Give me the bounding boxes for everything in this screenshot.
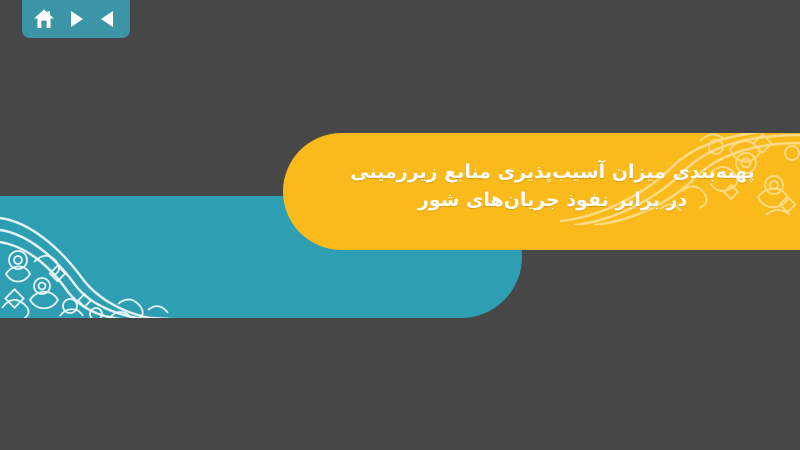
- title-line-2: در برابر نفوذ جریان‌های شور: [323, 187, 782, 215]
- home-button[interactable]: [31, 6, 57, 32]
- orange-title-band: پهنه‌بندی میزان آسیب‌پذیری منابع زیرزمین…: [283, 133, 800, 250]
- triangle-right-icon: [66, 9, 86, 29]
- triangle-left-icon: [98, 9, 118, 29]
- next-slide-button[interactable]: [63, 6, 89, 32]
- slide-title: پهنه‌بندی میزان آسیب‌پذیری منابع زیرزمین…: [323, 159, 782, 214]
- previous-slide-button[interactable]: [95, 6, 121, 32]
- navigation-bar: [22, 0, 130, 38]
- slide-canvas: پهنه‌بندی میزان آسیب‌پذیری منابع زیرزمین…: [0, 0, 800, 450]
- title-line-1: پهنه‌بندی میزان آسیب‌پذیری منابع زیرزمین…: [323, 159, 782, 187]
- home-icon: [33, 8, 55, 30]
- arabesque-ornament-teal: [0, 200, 190, 318]
